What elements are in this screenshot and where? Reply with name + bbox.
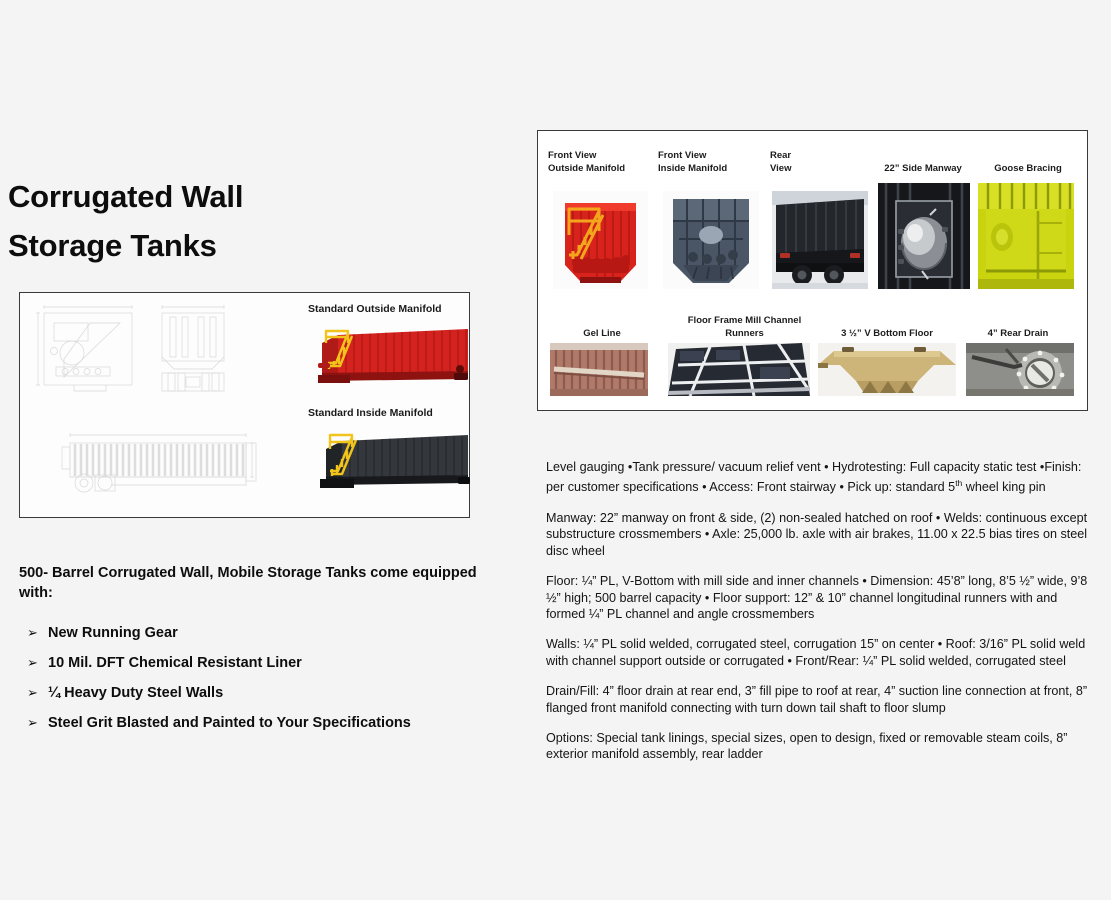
caption-line2: View bbox=[770, 162, 860, 175]
spec-paragraph-drain-fill: Drain/Fill: 4” floor drain at rear end, … bbox=[546, 683, 1090, 716]
page-title-line1: Corrugated Wall bbox=[8, 172, 478, 221]
render-caption: Standard Outside Manifold bbox=[308, 303, 474, 315]
tank-render-outside-manifold: Standard Outside Manifold bbox=[308, 303, 474, 396]
caption-rear-view: Rear View bbox=[770, 149, 860, 175]
caption-line1: Rear bbox=[770, 149, 860, 162]
photo-gallery-panel: Front View Outside Manifold Front View I… bbox=[537, 130, 1088, 411]
page-title: Corrugated Wall Storage Tanks bbox=[8, 172, 478, 270]
caption-line2: Inside Manifold bbox=[658, 162, 778, 175]
tank-render-inside-manifold: Standard Inside Manifold bbox=[308, 407, 474, 500]
caption-front-view-inside-manifold: Front View Inside Manifold bbox=[658, 149, 778, 175]
caption-line2: Gel Line bbox=[556, 327, 648, 340]
list-item-label: 10 Mil. DFT Chemical Resistant Liner bbox=[48, 649, 302, 678]
caption-gel-line: Gel Line bbox=[556, 327, 648, 340]
list-item-label: Steel Grit Blasted and Painted to Your S… bbox=[48, 709, 411, 738]
caption-line2: 22” Side Manway bbox=[868, 162, 978, 175]
caption-line2: 3 ½” V Bottom Floor bbox=[822, 327, 952, 340]
intro-text: 500- Barrel Corrugated Wall, Mobile Stor… bbox=[19, 563, 484, 603]
photo-side-manway bbox=[878, 183, 970, 289]
list-item: ➢ New Running Gear bbox=[27, 618, 487, 648]
specifications-text: Level gauging •Tank pressure/ vacuum rel… bbox=[546, 459, 1090, 777]
cad-front-elevation bbox=[34, 301, 146, 393]
drawing-panel: Standard Outside Manifold Standard Insid… bbox=[19, 292, 470, 518]
caption-floor-frame-mill-channel-runners: Floor Frame Mill Channel Runners bbox=[672, 314, 817, 340]
spec-paragraph-general: Level gauging •Tank pressure/ vacuum rel… bbox=[546, 459, 1090, 496]
photo-v-bottom-floor bbox=[818, 343, 956, 396]
caption-line1: Front View bbox=[658, 149, 778, 162]
feature-list: ➢ New Running Gear ➢ 10 Mil. DFT Chemica… bbox=[27, 618, 487, 738]
caption-line2: Runners bbox=[672, 327, 817, 340]
cad-rear-elevation bbox=[156, 301, 230, 393]
bullet-arrow-icon: ➢ bbox=[27, 648, 48, 677]
caption-line2: 4” Rear Drain bbox=[962, 327, 1074, 340]
tank-illustration-black bbox=[308, 421, 474, 495]
bullet-arrow-icon: ➢ bbox=[27, 708, 48, 737]
photo-gel-line bbox=[550, 343, 648, 396]
caption-v-bottom-floor: 3 ½” V Bottom Floor bbox=[822, 327, 952, 340]
caption-goose-bracing: Goose Bracing bbox=[978, 162, 1078, 175]
caption-line2: Goose Bracing bbox=[978, 162, 1078, 175]
list-item-label: ¼ Heavy Duty Steel Walls bbox=[48, 679, 223, 708]
caption-line1: Floor Frame Mill Channel bbox=[672, 314, 817, 327]
photo-rear-view bbox=[772, 191, 868, 289]
caption-line1: Front View bbox=[548, 149, 668, 162]
list-item: ➢ ¼ Heavy Duty Steel Walls bbox=[27, 678, 487, 708]
bullet-arrow-icon: ➢ bbox=[27, 678, 48, 707]
spec-paragraph-options: Options: Special tank linings, special s… bbox=[546, 730, 1090, 763]
photo-rear-drain bbox=[966, 343, 1074, 396]
list-item-label: New Running Gear bbox=[48, 619, 178, 648]
list-item: ➢ Steel Grit Blasted and Painted to Your… bbox=[27, 708, 487, 738]
photo-front-view-inside-manifold bbox=[663, 191, 759, 289]
caption-front-view-outside-manifold: Front View Outside Manifold bbox=[548, 149, 668, 175]
list-item: ➢ 10 Mil. DFT Chemical Resistant Liner bbox=[27, 648, 487, 678]
tank-illustration-red bbox=[308, 317, 474, 391]
render-caption: Standard Inside Manifold bbox=[308, 407, 474, 419]
bullet-arrow-icon: ➢ bbox=[27, 618, 48, 647]
caption-side-manway: 22” Side Manway bbox=[868, 162, 978, 175]
caption-line2: Outside Manifold bbox=[548, 162, 668, 175]
spec-p1-b: wheel king pin bbox=[962, 481, 1045, 495]
photo-goose-bracing bbox=[978, 183, 1074, 289]
spec-paragraph-manway: Manway: 22” manway on front & side, (2) … bbox=[546, 510, 1090, 559]
photo-front-view-outside-manifold bbox=[553, 191, 648, 289]
caption-rear-drain: 4” Rear Drain bbox=[962, 327, 1074, 340]
spec-paragraph-floor: Floor: ¼” PL, V-Bottom with mill side an… bbox=[546, 573, 1090, 622]
spec-paragraph-walls: Walls: ¼” PL solid welded, corrugated st… bbox=[546, 636, 1090, 669]
page-title-line2: Storage Tanks bbox=[8, 221, 478, 270]
cad-side-elevation bbox=[42, 427, 278, 499]
photo-floor-frame-mill-channel-runners bbox=[668, 343, 810, 396]
